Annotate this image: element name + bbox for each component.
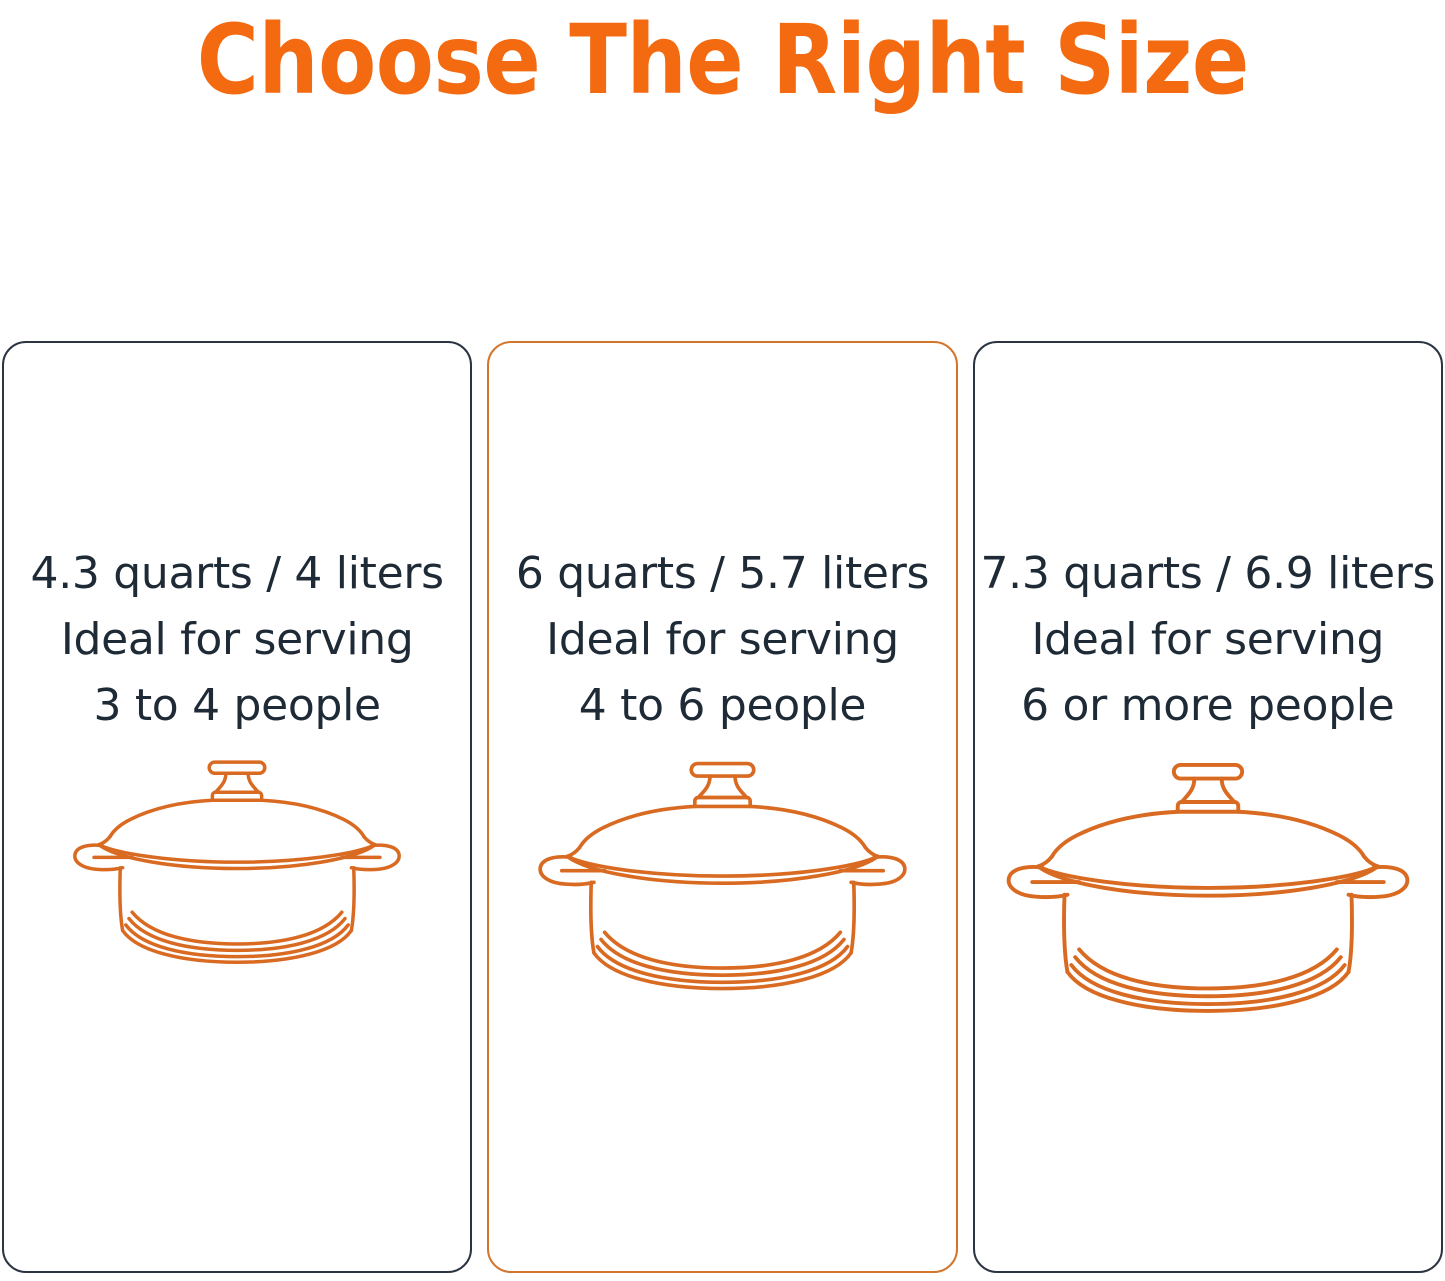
pot-illustration-container-medium [489, 751, 955, 994]
pot-illustration-container-small [4, 751, 470, 967]
capacity-label: 4.3 quarts / 4 liters [4, 541, 470, 607]
size-options-row: 4.3 quarts / 4 liters Ideal for serving … [2, 341, 1443, 1273]
capacity-label: 7.3 quarts / 6.9 liters [975, 541, 1441, 607]
page-title: Choose The Right Size [196, 12, 1248, 108]
size-description-medium: 6 quarts / 5.7 liters Ideal for serving … [489, 541, 955, 739]
dutch-oven-pot-icon [535, 751, 910, 994]
pot-illustration-container-large [975, 751, 1441, 1017]
size-description-large: 7.3 quarts / 6.9 liters Ideal for servin… [975, 541, 1441, 739]
size-option-card-small[interactable]: 4.3 quarts / 4 liters Ideal for serving … [2, 341, 472, 1273]
page-header: Choose The Right Size [0, 0, 1445, 120]
serving-label-line2: 4 to 6 people [489, 673, 955, 739]
capacity-label: 6 quarts / 5.7 liters [489, 541, 955, 607]
serving-label-line1: Ideal for serving [975, 607, 1441, 673]
size-description-small: 4.3 quarts / 4 liters Ideal for serving … [4, 541, 470, 739]
serving-label-line1: Ideal for serving [4, 607, 470, 673]
size-option-card-large[interactable]: 7.3 quarts / 6.9 liters Ideal for servin… [973, 341, 1443, 1273]
size-option-card-medium[interactable]: 6 quarts / 5.7 liters Ideal for serving … [487, 341, 957, 1273]
serving-label-line1: Ideal for serving [489, 607, 955, 673]
dutch-oven-pot-icon [70, 751, 404, 967]
serving-label-line2: 6 or more people [975, 673, 1441, 739]
serving-label-line2: 3 to 4 people [4, 673, 470, 739]
dutch-oven-pot-icon [1003, 751, 1413, 1017]
